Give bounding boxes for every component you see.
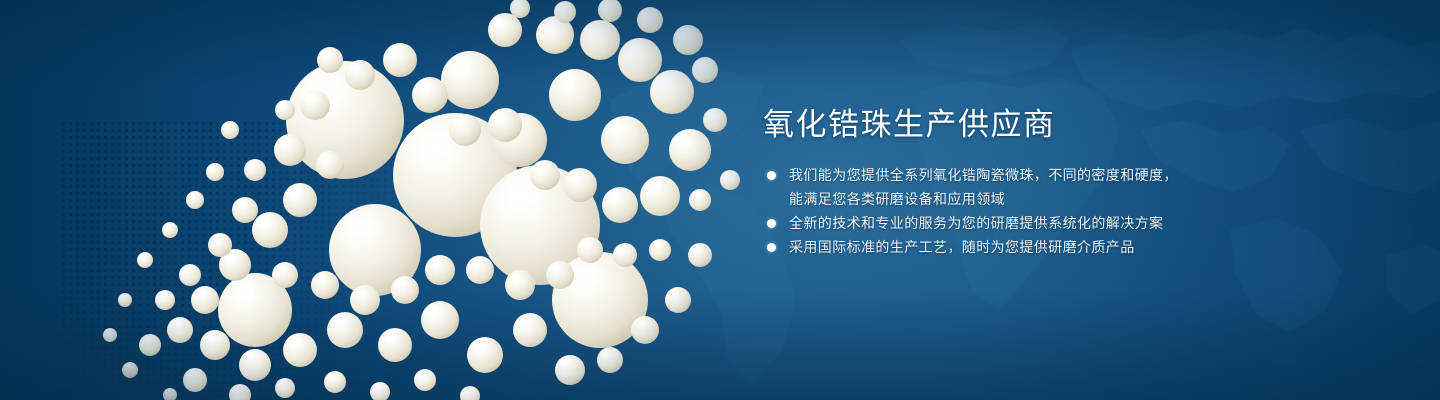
ceramic-bead [139, 334, 161, 356]
ceramic-bead [650, 70, 694, 114]
ceramic-bead [317, 47, 343, 73]
ceramic-bead [513, 313, 547, 347]
ceramic-bead [618, 38, 662, 82]
ceramic-bead [449, 114, 481, 146]
ceramic-bead [155, 290, 175, 310]
ceramic-bead [275, 378, 295, 398]
ceramic-bead [425, 255, 455, 285]
ceramic-bead [345, 60, 375, 90]
ceramic-bead [122, 362, 138, 378]
list-item: 全新的技术和专业的服务为您的研磨提供系统化的解决方案 [763, 211, 1383, 235]
ceramic-bead [530, 160, 560, 190]
ceramic-bead [414, 369, 436, 391]
ceramic-bead [370, 382, 390, 400]
ceramic-bead [179, 264, 201, 286]
banner-copy: 氧化锆珠生产供应商 我们能为您提供全系列氧化锆陶瓷微珠，不同的密度和硬度， 能满… [763, 105, 1383, 259]
ceramic-bead [221, 121, 239, 139]
ceramic-bead [274, 134, 306, 166]
ceramic-bead [272, 262, 298, 288]
ceramic-bead [720, 170, 740, 190]
ceramic-bead [229, 384, 251, 400]
ceramic-bead [577, 237, 603, 263]
ceramic-bead [549, 69, 601, 121]
ceramic-bead [300, 90, 330, 120]
ceramic-bead [206, 163, 224, 181]
ceramic-bead [488, 108, 522, 142]
ceramic-bead [239, 349, 271, 381]
ceramic-bead [441, 51, 499, 109]
ceramic-bead [665, 287, 691, 313]
ceramic-bead [412, 77, 448, 113]
ceramic-bead [466, 256, 494, 284]
ceramic-bead [167, 317, 193, 343]
ceramic-bead [640, 176, 680, 216]
ceramic-bead [554, 1, 576, 23]
ceramic-bead [688, 243, 712, 267]
ceramic-bead [244, 159, 266, 181]
ceramic-bead [118, 293, 132, 307]
ceramic-bead [460, 386, 480, 400]
ceramic-bead [613, 243, 637, 267]
ceramic-bead [505, 270, 535, 300]
ceramic-bead [421, 301, 459, 339]
zirconia-beads-photo [0, 0, 740, 400]
ceramic-bead [383, 43, 417, 77]
ceramic-bead [316, 151, 344, 179]
feature-list: 我们能为您提供全系列氧化锆陶瓷微珠，不同的密度和硬度， 能满足您各类研磨设备和应… [763, 163, 1383, 259]
ceramic-bead [324, 371, 346, 393]
ceramic-bead [669, 129, 711, 171]
ceramic-bead [208, 233, 232, 257]
ceramic-bead [283, 333, 317, 367]
ceramic-bead [510, 0, 530, 18]
ceramic-bead [232, 197, 258, 223]
list-item-line-1: 采用国际标准的生产工艺，随时为您提供研磨介质产品 [789, 239, 1135, 255]
ceramic-bead [467, 337, 503, 373]
ceramic-bead [283, 183, 317, 217]
list-item-line-1: 我们能为您提供全系列氧化锆陶瓷微珠，不同的密度和硬度， [789, 167, 1178, 183]
ceramic-bead [546, 261, 574, 289]
ceramic-bead [563, 168, 597, 202]
ceramic-bead [183, 368, 207, 392]
bullet-dot-icon [767, 219, 776, 228]
ceramic-bead [327, 312, 363, 348]
ceramic-bead [275, 100, 295, 120]
ceramic-bead [311, 271, 339, 299]
ceramic-bead [597, 347, 623, 373]
list-item: 采用国际标准的生产工艺，随时为您提供研磨介质产品 [763, 235, 1383, 259]
ceramic-bead [252, 212, 288, 248]
ceramic-bead [602, 187, 638, 223]
bullet-dot-icon [767, 243, 776, 252]
list-item-line-2: 能满足您各类研磨设备和应用领域 [789, 187, 1383, 211]
ceramic-bead [555, 355, 585, 385]
ceramic-bead [163, 388, 177, 400]
hero-banner: 氧化锆珠生产供应商 我们能为您提供全系列氧化锆陶瓷微珠，不同的密度和硬度， 能满… [0, 0, 1440, 400]
ceramic-bead [378, 328, 412, 362]
page-title: 氧化锆珠生产供应商 [763, 105, 1383, 145]
ceramic-bead [598, 0, 622, 22]
ceramic-bead [692, 57, 718, 83]
ceramic-bead [162, 222, 178, 238]
ceramic-bead [137, 252, 153, 268]
ceramic-bead [580, 20, 620, 60]
ceramic-bead [391, 276, 419, 304]
bullet-dot-icon [767, 171, 776, 180]
ceramic-bead [103, 328, 117, 342]
ceramic-bead [601, 116, 649, 164]
ceramic-bead [191, 286, 219, 314]
ceramic-bead [200, 330, 230, 360]
ceramic-bead [689, 189, 711, 211]
ceramic-bead [350, 285, 380, 315]
ceramic-bead [673, 25, 703, 55]
ceramic-bead [703, 108, 727, 132]
ceramic-bead [649, 239, 671, 261]
ceramic-bead [186, 191, 204, 209]
ceramic-bead [488, 13, 522, 47]
list-item-line-1: 全新的技术和专业的服务为您的研磨提供系统化的解决方案 [789, 215, 1163, 231]
ceramic-bead [637, 7, 663, 33]
list-item: 我们能为您提供全系列氧化锆陶瓷微珠，不同的密度和硬度， 能满足您各类研磨设备和应… [763, 163, 1383, 211]
ceramic-bead [631, 316, 659, 344]
